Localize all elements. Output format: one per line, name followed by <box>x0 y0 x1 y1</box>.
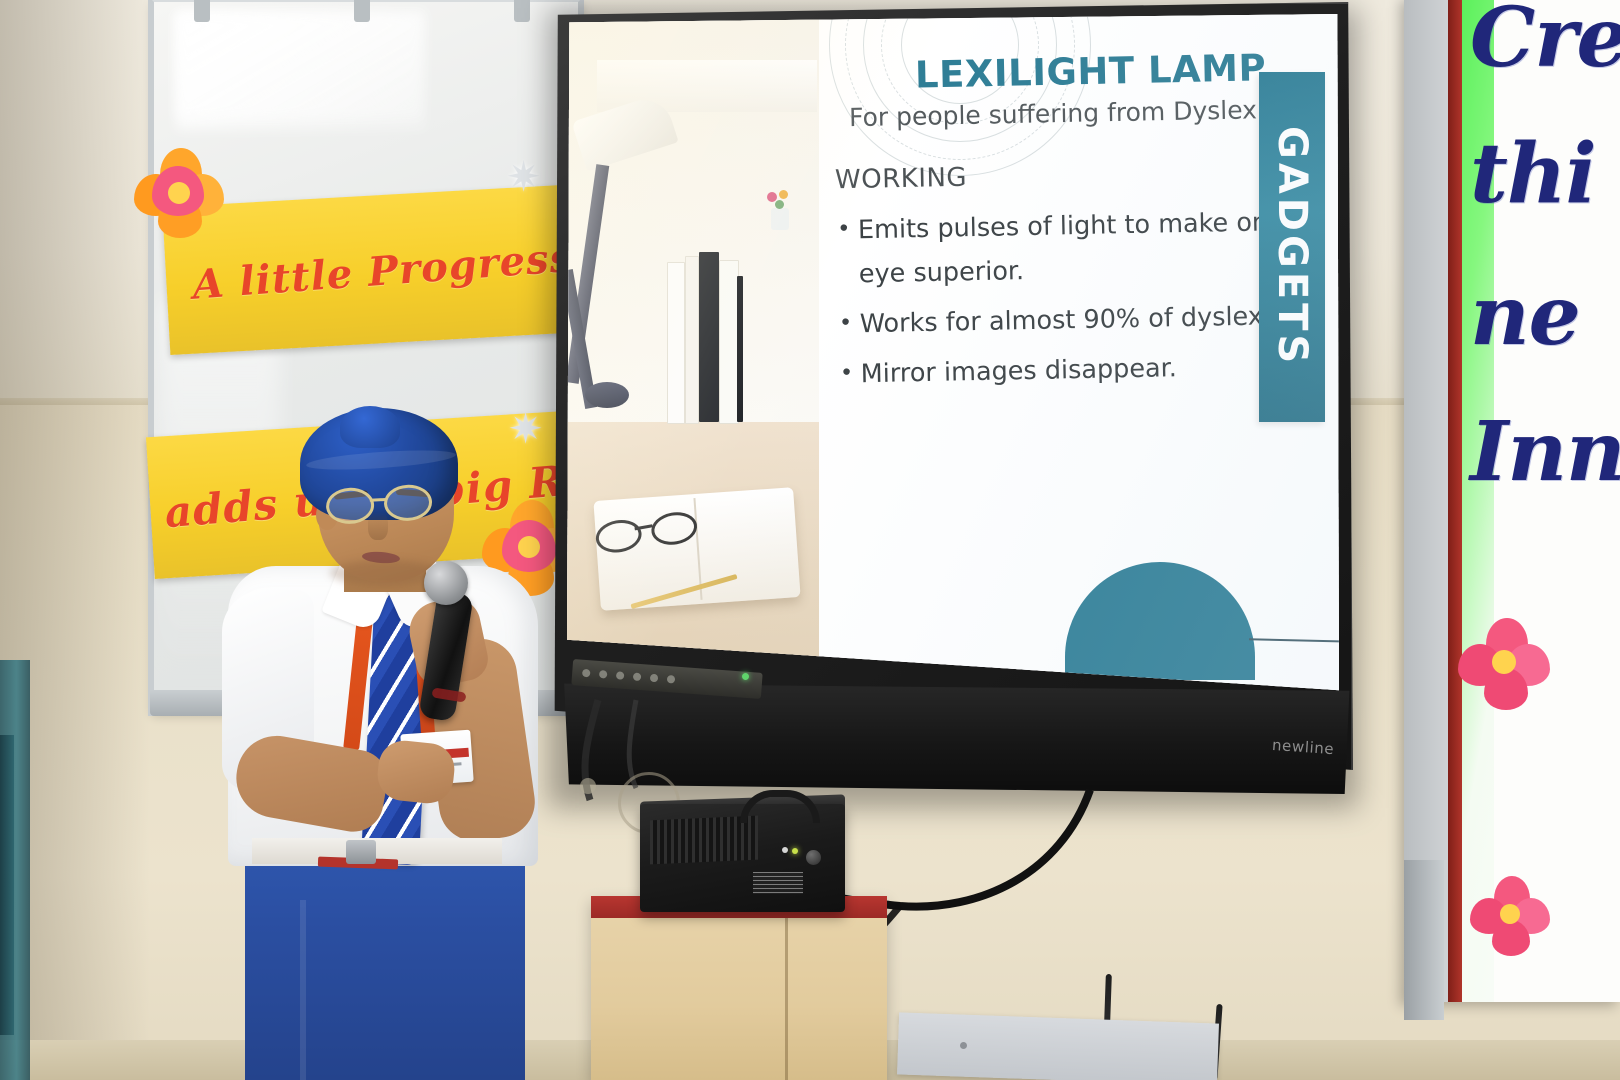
right-board-flower-decor <box>1458 618 1550 710</box>
wall-hook <box>580 778 596 794</box>
right-board-stand-leg <box>1404 860 1444 1020</box>
right-board-line-2: thi <box>1470 126 1596 222</box>
photo-book-dark <box>699 252 719 422</box>
belt-buckle <box>346 840 376 864</box>
right-board-line-3: ne <box>1470 268 1580 364</box>
ups-spec-label <box>753 872 803 894</box>
right-board-flower-decor-2 <box>1470 876 1550 956</box>
source-icon[interactable] <box>650 674 659 683</box>
presenter-left-hand <box>375 738 457 806</box>
menu-icon[interactable] <box>633 673 642 682</box>
wall-plate <box>897 1012 1219 1080</box>
slide-body: LEXILIGHT LAMP For people suffering from… <box>819 14 1339 714</box>
volume-down-icon[interactable] <box>599 670 608 679</box>
star-decor-top: ✷ <box>506 152 541 201</box>
flower-decor-top <box>134 148 226 240</box>
bullet-dot-icon: • <box>842 352 851 392</box>
wooden-stand <box>591 896 887 1080</box>
photo-book <box>667 262 685 424</box>
panel-screen[interactable]: LEXILIGHT LAMP For people suffering from… <box>567 14 1339 714</box>
whiteboard-clip <box>514 0 530 22</box>
slide-bullet-list: • Emits pulses of light to make one eye … <box>839 199 1323 402</box>
power-icon[interactable] <box>582 669 591 678</box>
bullet-text: Mirror images disappear. <box>860 346 1177 396</box>
ups-status-led-active <box>792 848 798 854</box>
slide-title: LEXILIGHT LAMP <box>915 46 1267 96</box>
list-item: • Emits pulses of light to make one eye … <box>839 199 1321 296</box>
bullet-dot-icon: • <box>841 302 850 342</box>
photo-book <box>719 260 739 424</box>
right-board-line-1: Cre <box>1470 0 1620 86</box>
bullet-text: Emits pulses of light to make one eye su… <box>858 199 1321 296</box>
slide-semicircle-decor <box>1065 562 1255 680</box>
photo-book <box>685 256 699 424</box>
list-item: • Mirror images disappear. <box>842 343 1323 396</box>
presentation-slide: LEXILIGHT LAMP For people suffering from… <box>567 14 1339 714</box>
presenter-trousers <box>245 836 525 1080</box>
volume-up-icon[interactable] <box>616 671 625 680</box>
classroom-scene: A little Progress Each day adds up to bi… <box>0 0 1620 1080</box>
wooden-stand-seam <box>785 918 788 1080</box>
slide-hairline-decor <box>1249 638 1339 648</box>
list-item: • Works for almost 90% of dyslexics. <box>841 293 1322 346</box>
microphone-grille <box>424 561 468 605</box>
trouser-crease <box>300 900 306 1080</box>
wall-plate-screw <box>960 1042 967 1049</box>
right-board-line-4: Inn <box>1470 404 1620 500</box>
door-edge-inner <box>0 735 14 1035</box>
slide-category-label: GADGETS <box>1269 126 1315 367</box>
turban-knot <box>340 406 400 448</box>
whiteboard-clip <box>194 0 210 22</box>
photo-lamp-base <box>585 382 629 408</box>
home-icon[interactable] <box>667 675 676 684</box>
bullet-text: Works for almost 90% of dyslexics. <box>859 294 1305 347</box>
slide-category-tab: GADGETS <box>1259 72 1325 422</box>
slide-section-heading: WORKING <box>835 163 968 196</box>
photo-plant <box>765 190 795 236</box>
ups-power-button[interactable] <box>806 850 821 865</box>
right-board-red-border <box>1448 0 1462 1002</box>
presenter-nose <box>368 512 388 540</box>
slide-photo <box>567 14 819 714</box>
bullet-dot-icon: • <box>839 208 848 248</box>
photo-book-dark <box>737 276 743 422</box>
ups-status-led <box>782 847 788 853</box>
whiteboard-clip <box>354 0 370 22</box>
